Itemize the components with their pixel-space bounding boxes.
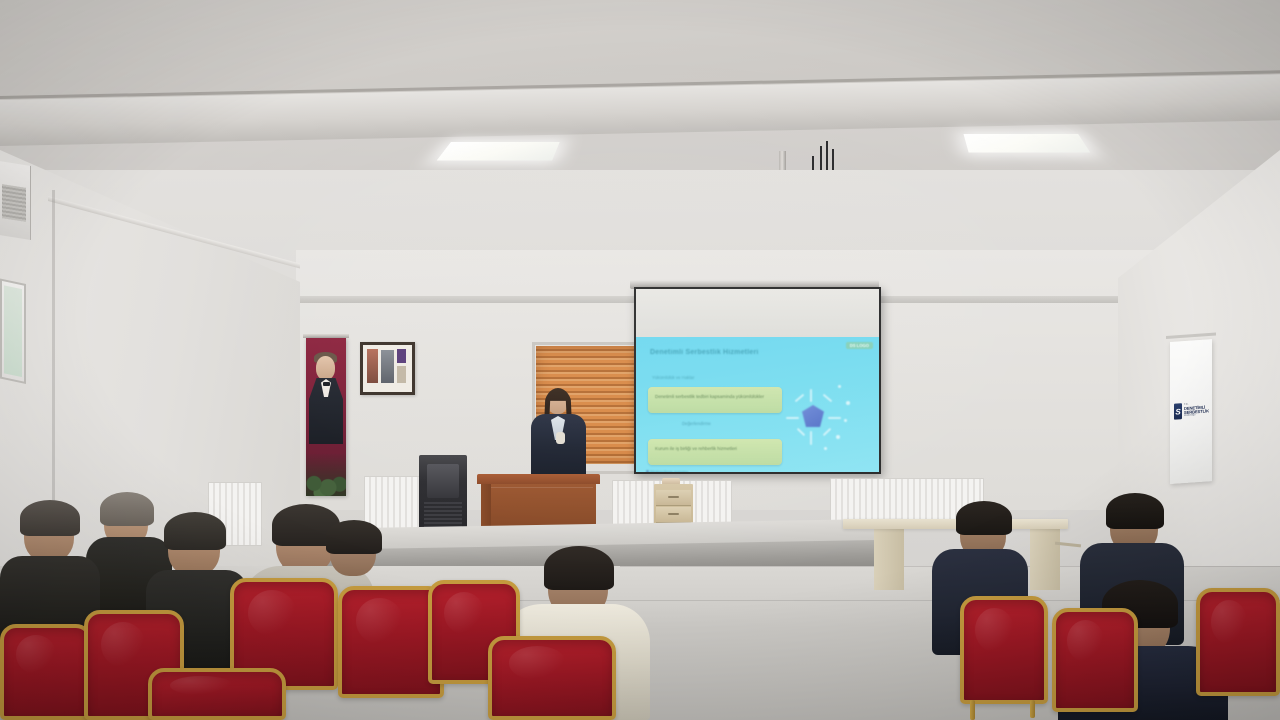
slide-logo: DS LOGO [846, 342, 873, 349]
chair-right-1[interactable] [960, 596, 1048, 704]
attendee-8-hair [1106, 493, 1164, 529]
portrait-bowtie [323, 382, 330, 386]
slide-box-1-text: Denetimli serbestlik tedbiri kapsaminda … [655, 394, 776, 400]
chair-front-center[interactable] [488, 636, 616, 720]
presenter-hands [556, 432, 565, 444]
slide-graphic-dot [844, 419, 847, 422]
slide-box-2-text: Kurum ile iş birliği ve rehberlik hizmet… [655, 446, 776, 452]
chair-foreground-left[interactable] [148, 668, 286, 720]
slide-graphic-ray [810, 431, 812, 445]
ataturk-portrait-banner [306, 338, 346, 496]
banner-sub-line: Müdürlüğü [1184, 413, 1209, 417]
slide-graphic-dot [836, 435, 840, 439]
slide-graphic-dot [846, 401, 850, 405]
attendee-1-hair [20, 500, 80, 536]
slide-graphic-ray [810, 389, 812, 402]
wooden-lectern-top [477, 474, 600, 484]
slide-graphic-ray [823, 428, 832, 436]
notice-board [0, 278, 26, 384]
chair-right-3[interactable] [1196, 588, 1280, 696]
drawer-2[interactable] [656, 507, 691, 523]
frame-panel-d [397, 366, 406, 383]
slide-footnote: Bilgilendirme sunumu [650, 469, 688, 472]
led-panel-2-icon [964, 134, 1091, 152]
slide-graphic-dot [824, 447, 827, 450]
slide-graphic-dot [838, 385, 841, 388]
attendee-2-hair [100, 492, 154, 526]
drawer-handle-icon [668, 513, 679, 515]
portrait-flowers [306, 454, 346, 496]
frame-panel-c [397, 349, 406, 363]
presentation-slide: DS LOGO Denetimli Serbestlik Hizmetleri … [636, 337, 879, 472]
chair-backrest [1052, 608, 1138, 712]
attendee-3-hair [164, 512, 226, 550]
slide-title: Denetimli Serbestlik Hizmetleri [650, 349, 840, 357]
frame-panel-a [367, 349, 378, 383]
screen-blank-area [636, 289, 879, 337]
frame-panel-b [381, 350, 394, 383]
chair-backrest [0, 624, 92, 720]
chair-leg [1030, 700, 1035, 718]
slide-graphic-ray [797, 428, 806, 436]
slide-box-1: Denetimli serbestlik tedbiri kapsaminda … [648, 387, 782, 413]
banner-logo-text: T.C. DENETİMLİ SERBESTLİK Müdürlüğü [1184, 403, 1209, 418]
photograph-scene: DS LOGO Denetimli Serbestlik Hizmetleri … [0, 0, 1280, 720]
air-conditioner-vent-icon [2, 184, 26, 222]
slide-graphic-ray [786, 417, 799, 419]
attendee-5-hair [326, 520, 382, 554]
slide-box-2: Kurum ile iş birliği ve rehberlik hizmet… [648, 439, 782, 465]
table-leg-right [1030, 528, 1060, 590]
framed-wall-picture [360, 342, 415, 395]
chair-right-2[interactable] [1052, 608, 1138, 712]
slide-graphic-core [802, 405, 824, 427]
portrait-face [316, 356, 335, 380]
chair-backrest [960, 596, 1048, 704]
drawer-1[interactable] [656, 490, 691, 506]
led-panel-1-icon [437, 142, 560, 160]
drawer-handle-icon [668, 496, 679, 498]
rollup-banner: S T.C. DENETİMLİ SERBESTLİK Müdürlüğü [1170, 339, 1212, 484]
table-leg-left [874, 528, 904, 590]
chair-row2-1[interactable] [0, 624, 92, 720]
slide-graphic-ray [823, 394, 833, 403]
attendee-7-hair [956, 501, 1012, 535]
left-wall-corner [52, 190, 55, 520]
slide-graphic-ray [795, 394, 805, 403]
attendee-6-hair [544, 546, 614, 590]
chair-backrest [1196, 588, 1280, 696]
banner-logo: S T.C. DENETİMLİ SERBESTLİK Müdürlüğü [1174, 401, 1209, 419]
chair-leg [970, 700, 975, 720]
banner-logo-mark: S [1174, 403, 1182, 420]
slide-graphic-icon [776, 375, 860, 461]
cabinet-panel [427, 464, 459, 498]
chair-backrest [148, 668, 286, 720]
projection-screen: DS LOGO Denetimli Serbestlik Hizmetleri … [634, 287, 881, 474]
chair-backrest [488, 636, 616, 720]
slide-middle-label: Değerlendirme [682, 421, 711, 426]
slide-graphic-ray [828, 417, 841, 419]
